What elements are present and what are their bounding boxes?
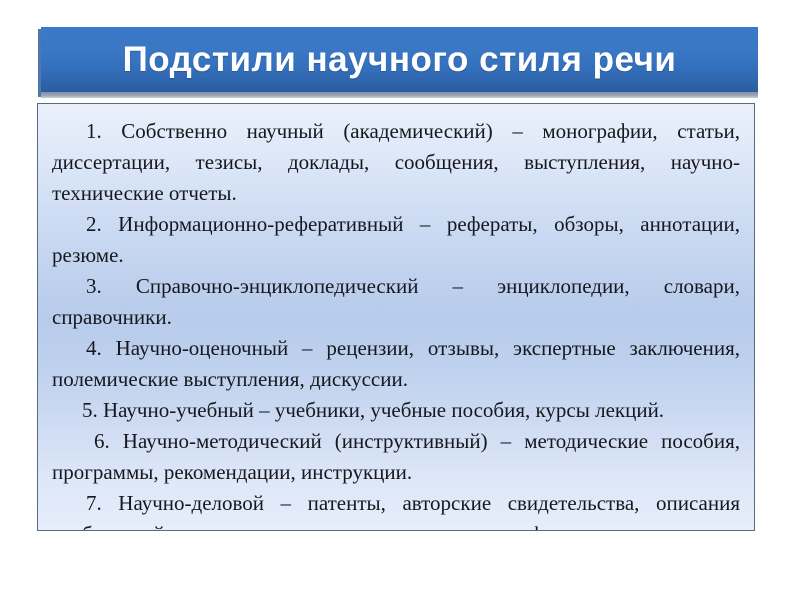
list-item: 1. Собственно научный (академический) – … (52, 116, 740, 209)
slide: Подстили научного стиля речи 1. Собствен… (0, 0, 800, 600)
list-item: 4. Научно-оценочный – рецензии, отзывы, … (52, 333, 740, 395)
title-banner-underline (41, 92, 758, 98)
slide-title-banner: Подстили научного стиля речи (38, 27, 758, 95)
title-banner-fill: Подстили научного стиля речи (41, 27, 758, 92)
list-item: 6. Научно-методический (инструктивный) –… (52, 426, 740, 488)
list-item: 3. Справочно-энциклопедический – энцикло… (52, 271, 740, 333)
content-panel: 1. Собственно научный (академический) – … (37, 103, 755, 531)
content-list: 1. Собственно научный (академический) – … (38, 104, 754, 531)
page-title: Подстили научного стиля речи (41, 27, 758, 92)
list-item: 7. Научно-деловой – патенты, авторские с… (52, 488, 740, 531)
list-item: 2. Информационно-реферативный – рефераты… (52, 209, 740, 271)
list-item: 5. Научно-учебный – учебники, учебные по… (52, 395, 740, 426)
